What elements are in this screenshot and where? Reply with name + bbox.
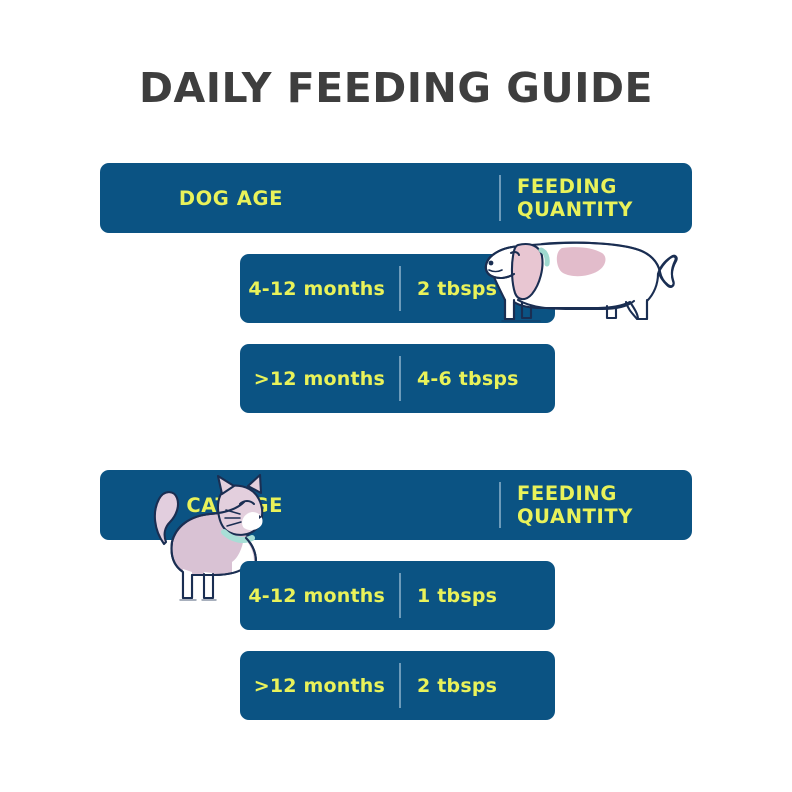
cat-age-value: >12 months [240,651,385,720]
dog-table-header-row: DOG AGE FEEDING QUANTITY [100,163,692,233]
cat-quantity-value: 1 tbsps [417,561,555,630]
dog-quantity-value: 2 tbsps [417,254,555,323]
dog-age-column-header: DOG AGE [100,163,283,233]
dog-age-value: >12 months [240,344,385,413]
column-divider [399,573,401,618]
dog-quantity-column-header: FEEDING QUANTITY [517,163,692,233]
dog-age-value: 4-12 months [240,254,385,323]
column-divider [499,482,501,528]
cat-quantity-column-header: FEEDING QUANTITY [517,470,692,540]
cat-age-column-header: CAT AGE [100,470,283,540]
table-row: 4-12 months 2 tbsps [240,254,555,323]
cat-age-value: 4-12 months [240,561,385,630]
cat-quantity-value: 2 tbsps [417,651,555,720]
table-row: 4-12 months 1 tbsps [240,561,555,630]
table-row: >12 months 2 tbsps [240,651,555,720]
table-row: >12 months 4-6 tbsps [240,344,555,413]
feeding-guide-infographic: DAILY FEEDING GUIDE DOG AGE FEEDING QUAN… [0,0,792,792]
column-divider [399,356,401,401]
cat-table-header-row: CAT AGE FEEDING QUANTITY [100,470,692,540]
column-divider [499,175,501,221]
dog-quantity-value: 4-6 tbsps [417,344,555,413]
page-title: DAILY FEEDING GUIDE [0,64,792,112]
column-divider [399,663,401,708]
column-divider [399,266,401,311]
